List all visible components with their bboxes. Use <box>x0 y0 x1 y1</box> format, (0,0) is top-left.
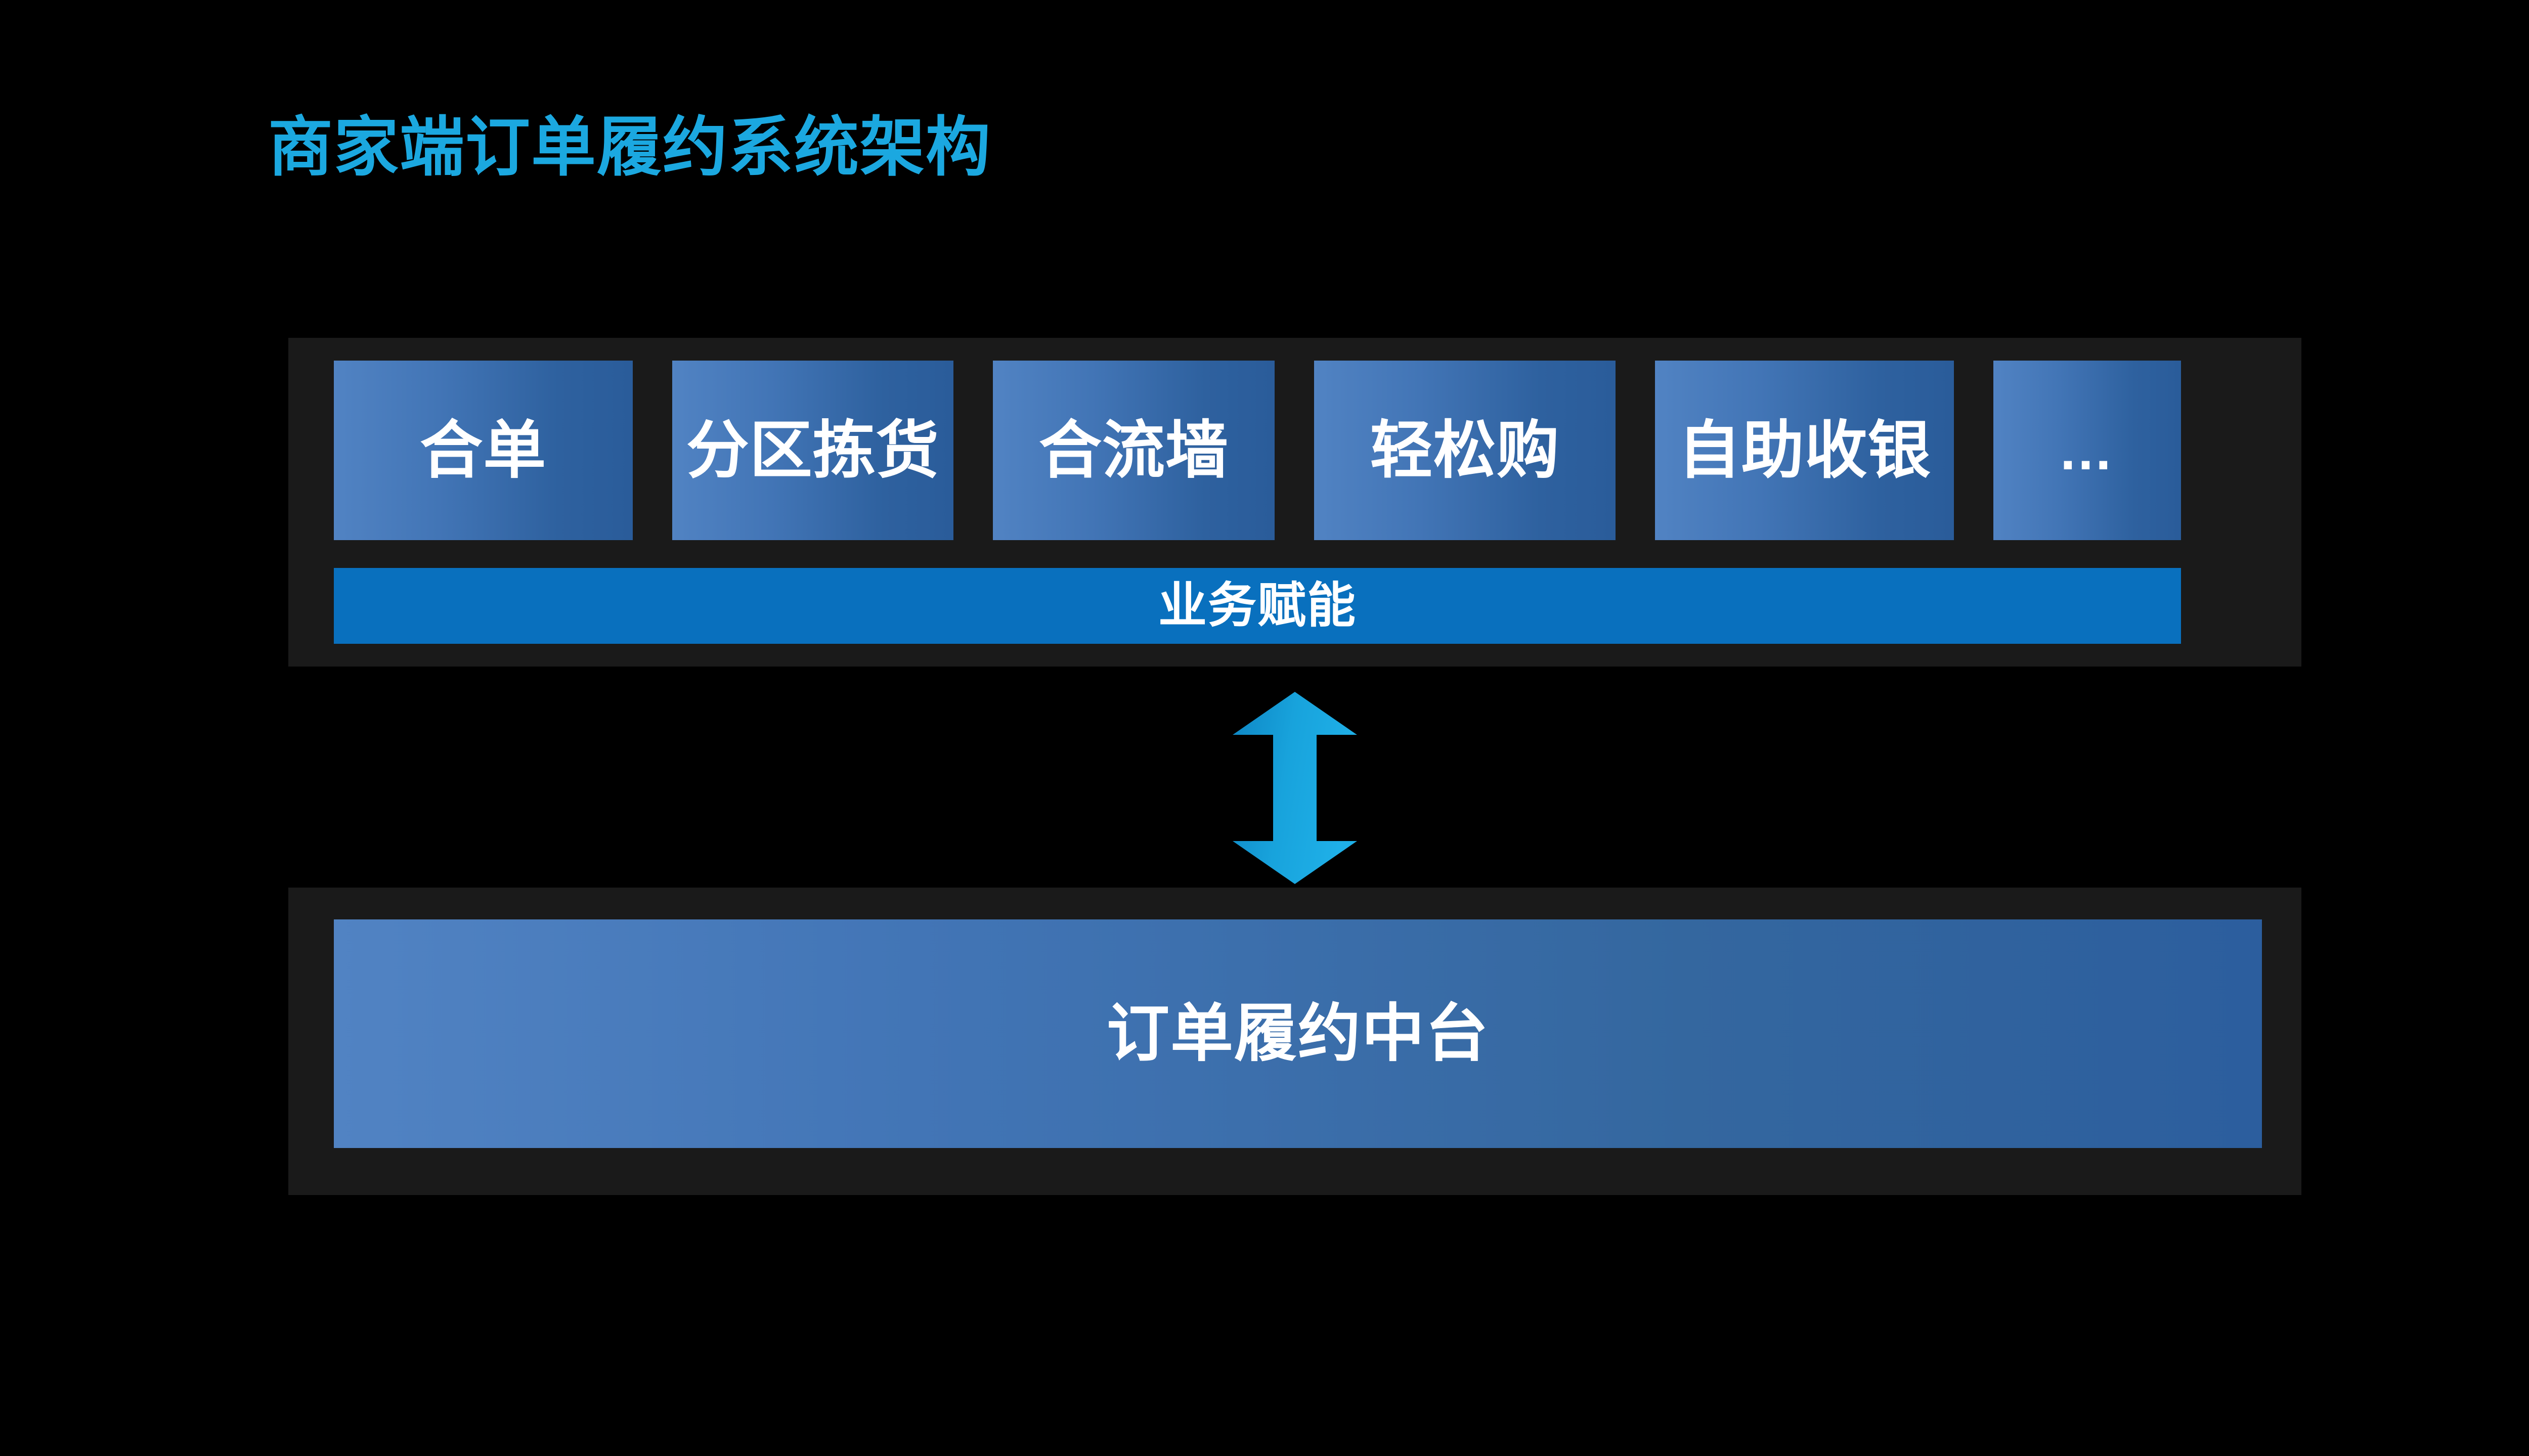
ellipsis-icon: … <box>2058 423 2116 478</box>
business-enablement-label: 业务赋能 <box>1158 582 1357 630</box>
capability-card-label: 分区拣货 <box>686 419 939 482</box>
capability-card-row: 合单 分区拣货 合流墙 轻松购 自助收银 … <box>334 361 2181 540</box>
capability-card-heliuqiang[interactable]: 合流墙 <box>993 361 1275 540</box>
capability-card-qingsonggou[interactable]: 轻松购 <box>1314 361 1616 540</box>
order-fulfillment-platform-panel[interactable]: 订单履约中台 <box>334 919 2262 1148</box>
capability-card-fenqujianhuo[interactable]: 分区拣货 <box>672 361 954 540</box>
capability-card-zizhushouyin[interactable]: 自助收银 <box>1655 361 1954 540</box>
capability-card-label: 合流墙 <box>1039 419 1229 482</box>
business-enablement-bar[interactable]: 业务赋能 <box>334 568 2181 644</box>
business-capability-layer: 合单 分区拣货 合流墙 轻松购 自助收银 … 业务赋能 <box>288 338 2301 667</box>
fulfillment-platform-layer: 订单履约中台 <box>288 888 2301 1195</box>
capability-card-label: 合单 <box>420 419 546 482</box>
capability-card-more[interactable]: … <box>1993 361 2181 540</box>
order-fulfillment-platform-label: 订单履约中台 <box>1107 1002 1489 1065</box>
capability-card-label: 轻松购 <box>1370 419 1560 482</box>
capability-card-label: 自助收银 <box>1678 419 1931 482</box>
capability-card-hedan[interactable]: 合单 <box>334 361 633 540</box>
double-headed-vertical-arrow-icon <box>1233 692 1357 884</box>
page-title: 商家端订单履约系统架构 <box>268 107 991 188</box>
